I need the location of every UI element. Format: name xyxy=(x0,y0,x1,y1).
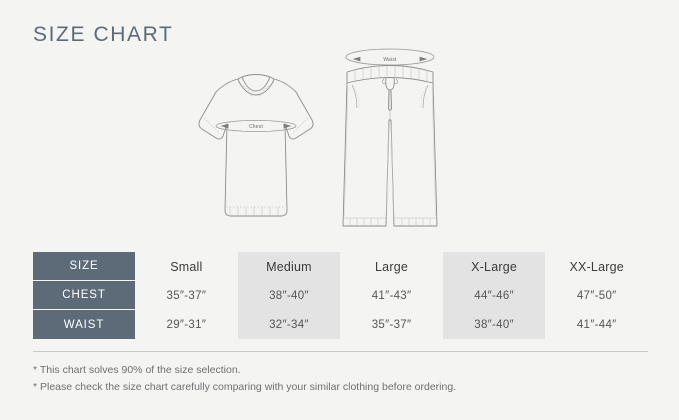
footnotes: * This chart solves 90% of the size sele… xyxy=(33,362,456,396)
section-divider xyxy=(33,351,648,352)
cell-chest-large: 41″-43″ xyxy=(340,281,443,310)
column-header-small: Small xyxy=(135,252,238,281)
column-header-large: Large xyxy=(340,252,443,281)
cell-waist-xx-large: 41″-44″ xyxy=(545,310,648,339)
table-row-waist: WAIST 29″-31″ 32″-34″ 35″-37″ 38″-40″ 41… xyxy=(33,310,648,339)
column-header-xx-large: XX-Large xyxy=(545,252,648,281)
row-label-waist: WAIST xyxy=(33,310,135,339)
cell-chest-x-large: 44″-46″ xyxy=(443,281,546,310)
table-row-chest: CHEST 35″-37″ 38″-40″ 41″-43″ 44″-46″ 47… xyxy=(33,281,648,310)
pants-measure-label: Waist xyxy=(383,57,397,63)
row-header-size: SIZE xyxy=(33,252,135,281)
cell-chest-small: 35″-37″ xyxy=(135,281,238,310)
cell-chest-medium: 38″-40″ xyxy=(238,281,341,310)
column-header-x-large: X-Large xyxy=(443,252,546,281)
shirt-measure-label: Chest xyxy=(249,124,263,130)
illustration-area: Chest Waist xyxy=(0,30,679,245)
column-header-medium: Medium xyxy=(238,252,341,281)
cell-waist-large: 35″-37″ xyxy=(340,310,443,339)
cell-waist-small: 29″-31″ xyxy=(135,310,238,339)
footnote-line-2: * Please check the size chart carefully … xyxy=(33,379,456,396)
cell-waist-medium: 32″-34″ xyxy=(238,310,341,339)
row-label-chest: CHEST xyxy=(33,281,135,310)
size-chart-table: SIZE Small Medium Large X-Large XX-Large… xyxy=(33,252,648,339)
footnote-line-1: * This chart solves 90% of the size sele… xyxy=(33,362,456,379)
pants-illustration: Waist xyxy=(325,30,455,245)
t-shirt-illustration: Chest xyxy=(186,60,326,245)
cell-chest-xx-large: 47″-50″ xyxy=(545,281,648,310)
table-row-header: SIZE Small Medium Large X-Large XX-Large xyxy=(33,252,648,281)
cell-waist-x-large: 38″-40″ xyxy=(443,310,546,339)
